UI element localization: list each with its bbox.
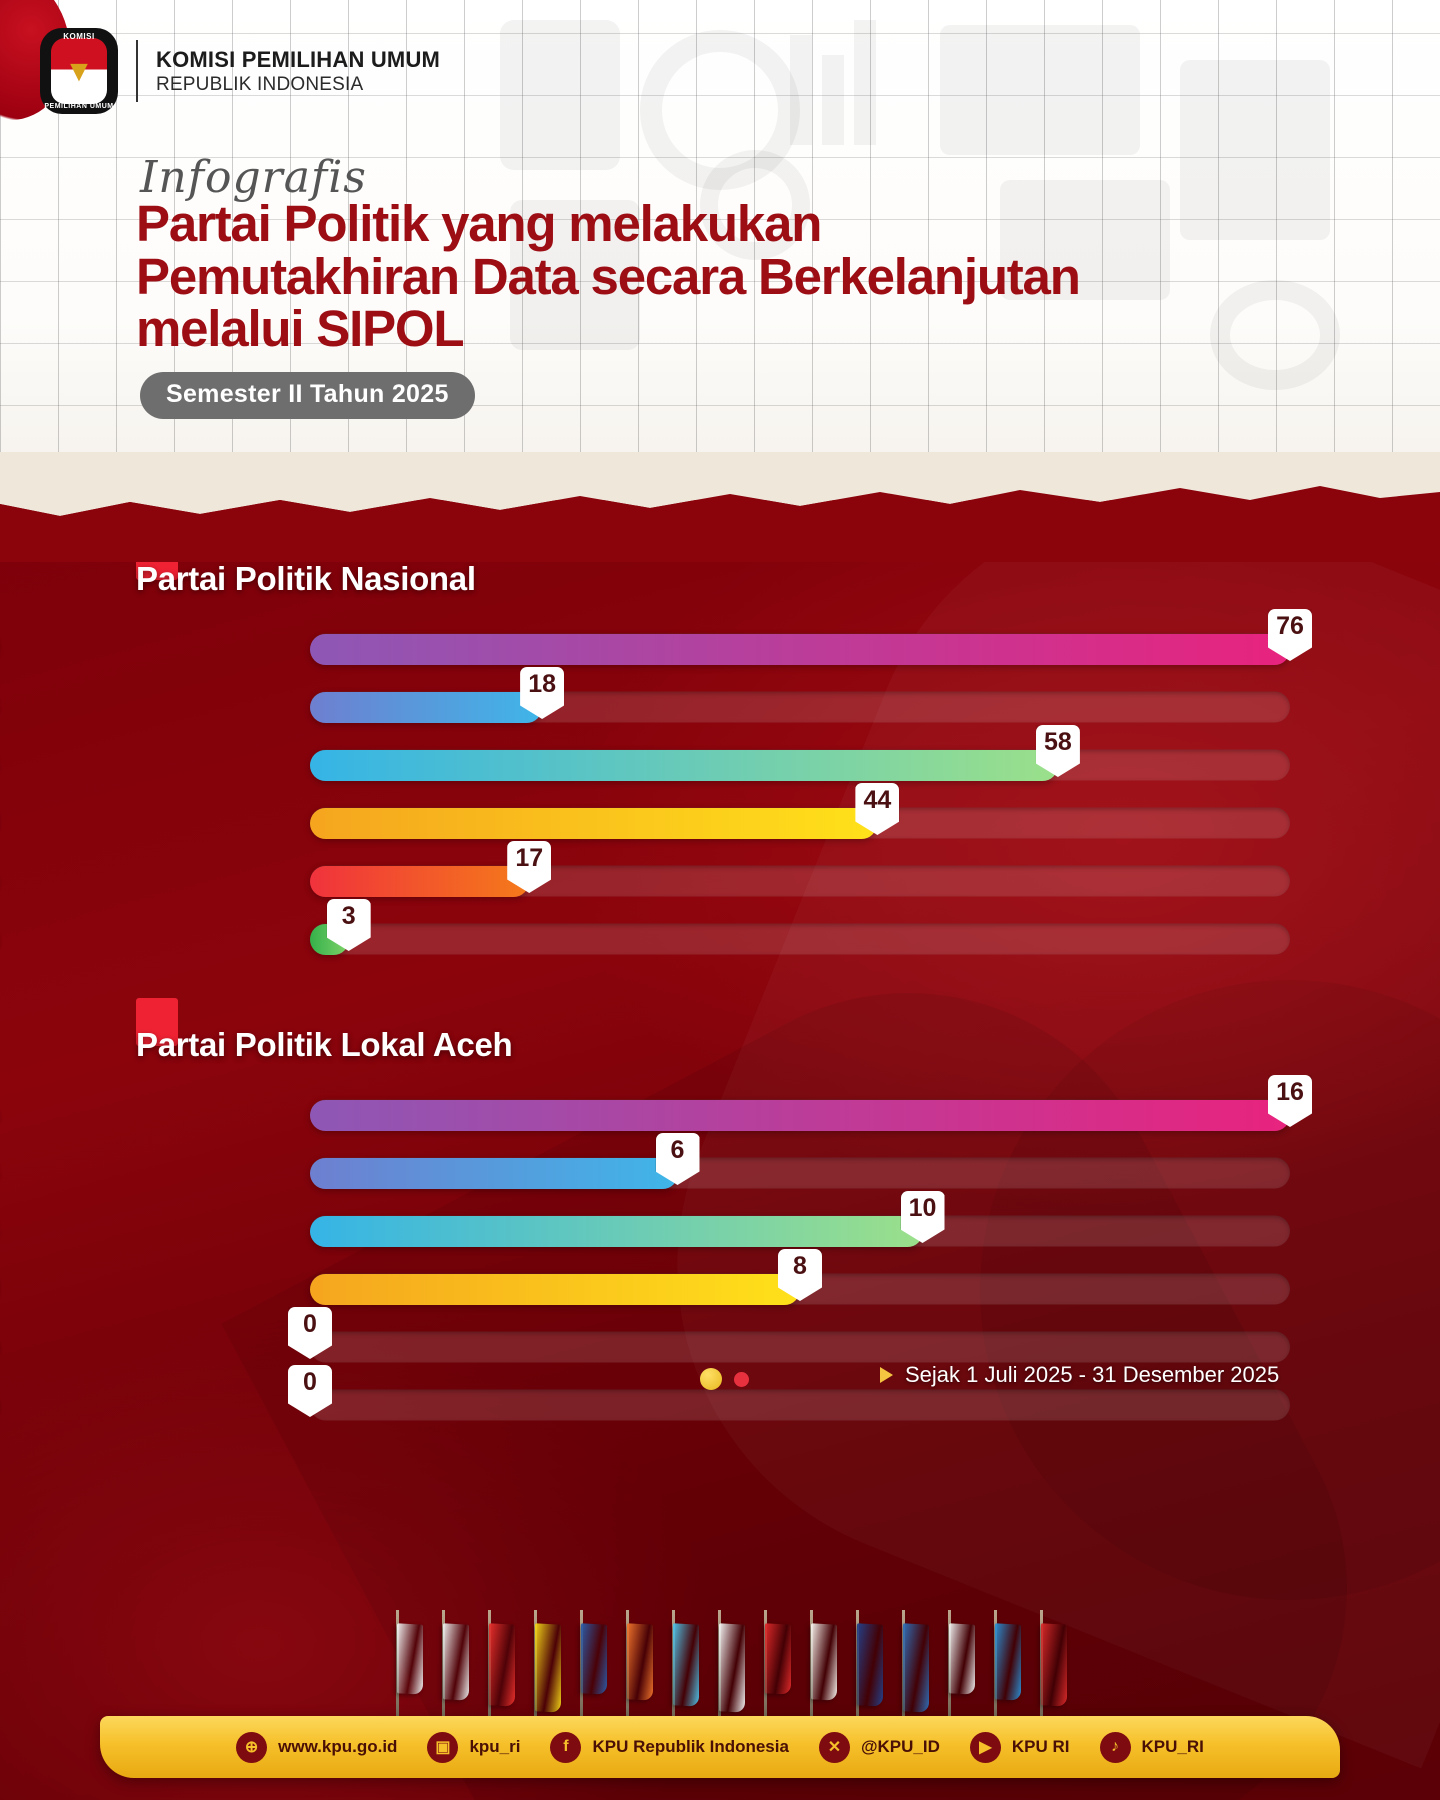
value-badge-text: 44	[863, 788, 891, 813]
bar-track	[310, 634, 1290, 665]
bar-track	[310, 1100, 1290, 1131]
bar-area: 76	[160, 620, 1290, 678]
flag-cloth	[627, 1623, 653, 1700]
bar-row: Parpol Lokal Aceh Bukan Peserta Pemilu 2…	[0, 1202, 1440, 1260]
bar-row: Parpol Peserta Pemilu 2024 melakukan pem…	[0, 852, 1440, 910]
party-flag-icon	[381, 1610, 415, 1730]
bar-track	[310, 1390, 1290, 1421]
flag-cloth	[903, 1623, 929, 1712]
flag-cloth	[1041, 1623, 1067, 1706]
social-link-instagram[interactable]: ▣kpu_ri	[427, 1732, 520, 1763]
section-title-aceh: Partai Politik Lokal Aceh	[136, 1026, 512, 1064]
torn-paper-edge	[0, 452, 1440, 562]
org-line-2: REPUBLIK INDONESIA	[156, 74, 440, 96]
flag-cloth	[765, 1623, 791, 1694]
bar-area: 10	[160, 1202, 1290, 1260]
value-badge-text: 58	[1044, 730, 1072, 755]
flag-cloth	[443, 1623, 469, 1700]
value-badge-text: 16	[1276, 1080, 1304, 1105]
party-flag-icon	[565, 1610, 599, 1730]
social-link-youtube[interactable]: ▶KPU RI	[970, 1732, 1070, 1763]
bar-track	[310, 1158, 1290, 1189]
social-label: KPU RI	[1012, 1737, 1070, 1757]
flag-cloth	[673, 1623, 699, 1706]
party-flag-icon	[519, 1610, 553, 1730]
bar-fill	[310, 1100, 1290, 1131]
party-flag-icon	[1025, 1610, 1059, 1730]
value-badge-text: 76	[1276, 614, 1304, 639]
bar-row: Parpol Lokal Aceh Memiliki Akun Sipol8	[0, 1260, 1440, 1318]
pagination-dots[interactable]	[700, 1368, 749, 1390]
ghost-bar-icon	[822, 55, 844, 145]
value-badge-text: 6	[671, 1138, 685, 1163]
dot-active[interactable]	[700, 1368, 722, 1390]
logo-divider	[136, 40, 138, 102]
bar-fill	[310, 808, 877, 839]
bar-track	[310, 692, 1290, 723]
party-flag-icon	[611, 1610, 645, 1730]
flag-cloth	[811, 1623, 837, 1700]
bar-row: Parpol Nasional76	[0, 620, 1440, 678]
bar-fill	[310, 750, 1058, 781]
flag-cloth	[397, 1623, 423, 1694]
bar-area: 58	[160, 736, 1290, 794]
party-flag-icon	[749, 1610, 783, 1730]
flag-cloth	[719, 1623, 745, 1712]
value-badge-text: 3	[342, 904, 356, 929]
date-note: Sejak 1 Juli 2025 - 31 Desember 2025	[880, 1362, 1279, 1388]
header-panel: ▼ KOMISI PEMILIHAN UMUM KOMISI PEMILIHAN…	[0, 0, 1440, 530]
chart-content: Partai Politik Nasional Parpol Nasional7…	[0, 500, 1440, 1434]
social-label: KPU_RI	[1142, 1737, 1204, 1757]
flag-cloth	[581, 1623, 607, 1694]
ghost-shape-icon	[500, 20, 620, 170]
bar-area: 18	[160, 678, 1290, 736]
logo-bottom-text: PEMILIHAN UMUM	[40, 103, 118, 110]
ghost-bar-icon	[790, 35, 812, 145]
bar-area: 6	[160, 1144, 1290, 1202]
triangle-bullet-icon	[880, 1367, 893, 1383]
party-flag-icon	[427, 1610, 461, 1730]
org-name: KOMISI PEMILIHAN UMUM REPUBLIK INDONESIA	[156, 47, 440, 96]
social-link-x-twitter[interactable]: ✕@KPU_ID	[819, 1732, 940, 1763]
bar-fill	[310, 1216, 923, 1247]
logo-top-text: KOMISI	[40, 32, 118, 41]
bar-track	[310, 1216, 1290, 1247]
bar-track	[310, 750, 1290, 781]
bar-fill	[310, 692, 542, 723]
social-label: kpu_ri	[469, 1737, 520, 1757]
party-flag-icon	[795, 1610, 829, 1730]
social-link-tiktok[interactable]: ♪KPU_RI	[1100, 1732, 1204, 1763]
bar-row: Parpol Memiliki Akun Sipol44	[0, 794, 1440, 852]
kpu-logo-lockup: ▼ KOMISI PEMILIHAN UMUM KOMISI PEMILIHAN…	[40, 28, 440, 114]
flag-cloth	[535, 1623, 561, 1712]
page-title: Partai Politik yang melakukan Pemutakhir…	[136, 198, 1136, 356]
instagram-icon[interactable]: ▣	[427, 1732, 458, 1763]
bar-row: Parpol Lokal Aceh16	[0, 1086, 1440, 1144]
bar-area: 16	[160, 1086, 1290, 1144]
bar-fill	[310, 634, 1290, 665]
infographic-poster: ▼ KOMISI PEMILIHAN UMUM KOMISI PEMILIHAN…	[0, 0, 1440, 1800]
org-line-1: KOMISI PEMILIHAN UMUM	[156, 47, 440, 73]
bar-track	[310, 1332, 1290, 1363]
facebook-icon[interactable]: f	[550, 1732, 581, 1763]
bar-row: Parpol Bukan Peserta Pemilu 202458	[0, 736, 1440, 794]
bar-row: Parpol Lokal Aceh Peserta Pemilu 20246	[0, 1144, 1440, 1202]
ghost-panel-icon	[940, 25, 1140, 155]
party-flags-row	[0, 1600, 1440, 1730]
bar-fill	[310, 866, 529, 897]
youtube-icon[interactable]: ▶	[970, 1732, 1001, 1763]
party-flag-icon	[703, 1610, 737, 1730]
value-badge-text: 18	[528, 672, 556, 697]
flag-cloth	[949, 1623, 975, 1694]
flag-cloth	[489, 1623, 515, 1706]
social-link-facebook[interactable]: fKPU Republik Indonesia	[550, 1732, 788, 1763]
value-badge-text: 17	[515, 846, 543, 871]
value-badge-text: 10	[909, 1196, 937, 1221]
party-flag-icon	[887, 1610, 921, 1730]
bar-track	[310, 866, 1290, 897]
bar-area: 3	[160, 910, 1290, 968]
globe-icon[interactable]: ⊕	[236, 1732, 267, 1763]
section-title-national: Partai Politik Nasional	[136, 560, 476, 598]
dot-inactive[interactable]	[734, 1372, 749, 1387]
party-flag-icon	[933, 1610, 967, 1730]
ghost-panel-icon	[1180, 60, 1330, 240]
bar-area: 44	[160, 794, 1290, 852]
social-label: www.kpu.go.id	[278, 1737, 397, 1757]
party-flag-icon	[657, 1610, 691, 1730]
ghost-bar-icon	[854, 20, 876, 145]
party-flag-icon	[473, 1610, 507, 1730]
flag-cloth	[995, 1623, 1021, 1700]
bar-fill	[310, 1158, 678, 1189]
party-flag-icon	[841, 1610, 875, 1730]
flag-cloth	[857, 1623, 883, 1706]
bar-track	[310, 808, 1290, 839]
social-label: KPU Republik Indonesia	[592, 1737, 788, 1757]
bar-row: Parpol Peserta Pemilu 202418	[0, 678, 1440, 736]
party-flag-icon	[979, 1610, 1013, 1730]
period-badge: Semester II Tahun 2025	[140, 372, 475, 419]
bar-row: Parpol bukan Peserta Pemilu 2024 melakuk…	[0, 910, 1440, 968]
ghost-ring-icon	[1210, 280, 1340, 390]
tiktok-icon[interactable]: ♪	[1100, 1732, 1131, 1763]
value-badge-text: 8	[793, 1254, 807, 1279]
garuda-icon: ▼	[64, 57, 94, 87]
date-note-text: Sejak 1 Juli 2025 - 31 Desember 2025	[905, 1362, 1279, 1388]
bar-rows-national: Parpol Nasional76Parpol Peserta Pemilu 2…	[0, 620, 1440, 968]
value-badge-text: 0	[303, 1370, 317, 1395]
section-national: Partai Politik Nasional Parpol Nasional7…	[0, 500, 1440, 968]
value-badge-text: 0	[303, 1312, 317, 1337]
bar-track	[310, 924, 1290, 955]
social-link-globe[interactable]: ⊕www.kpu.go.id	[236, 1732, 397, 1763]
social-label: @KPU_ID	[861, 1737, 940, 1757]
bar-fill	[310, 1274, 800, 1305]
social-footer-bar: ⊕www.kpu.go.id▣kpu_rifKPU Republik Indon…	[100, 1716, 1340, 1778]
x-twitter-icon[interactable]: ✕	[819, 1732, 850, 1763]
kpu-logo-icon: ▼ KOMISI PEMILIHAN UMUM	[40, 28, 118, 114]
